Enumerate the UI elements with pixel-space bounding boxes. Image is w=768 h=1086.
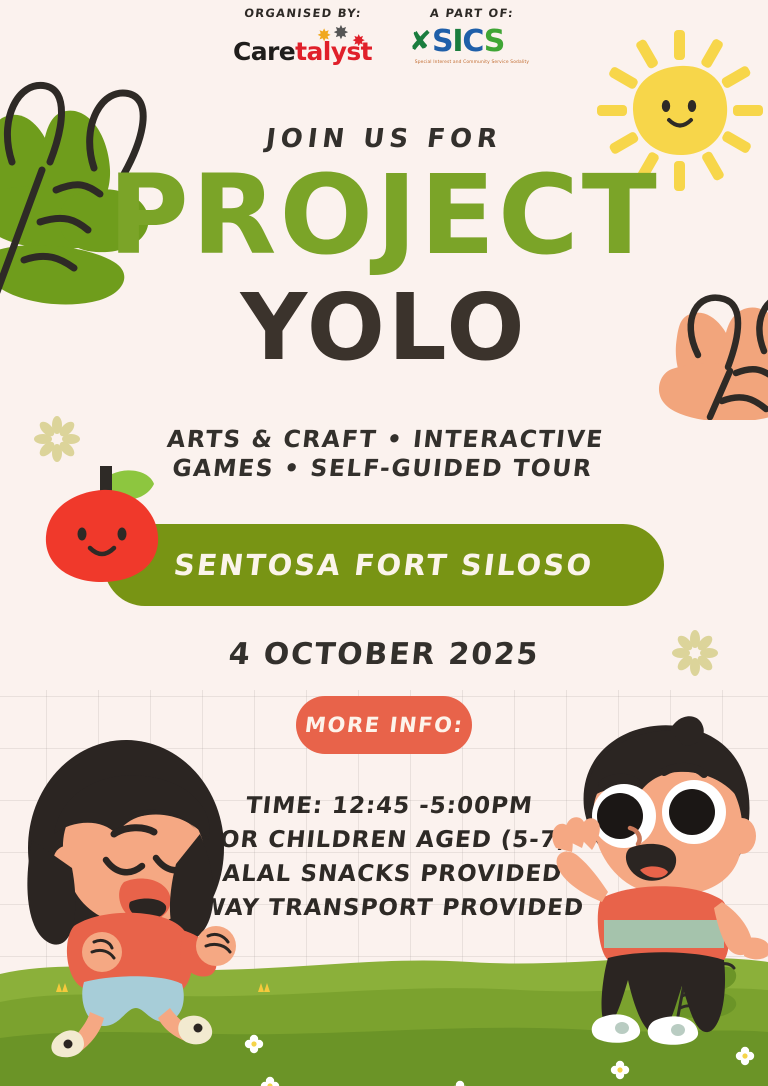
partner-block: A PART OF: ✘ SICS Special Interest and C… [409, 6, 535, 68]
activities-list: ARTS & CRAFT • INTERACTIVE GAMES • SELF-… [0, 425, 768, 483]
a-part-of-label: A PART OF: [408, 6, 535, 20]
sics-letter-c: C [462, 24, 483, 59]
event-details: TIME: 12:45 -5:00PM FOR CHILDREN AGED (5… [0, 789, 768, 925]
page-title-line-1: PROJECT [0, 160, 768, 270]
detail-snacks: HALAL SNACKS PROVIDED [0, 857, 768, 891]
grass-ground [0, 940, 768, 1086]
sics-letter-s2: S [484, 24, 504, 59]
poster-canvas: ORGANISED BY: Caretalyst ✸ ✸ ✸ A PART OF… [0, 0, 768, 1086]
detail-time: TIME: 12:45 -5:00PM [4, 789, 768, 823]
detail-age: FOR CHILDREN AGED (5-7) [0, 823, 768, 857]
caretalyst-star-icon: ✸ [317, 28, 331, 45]
sics-logo: ✘ SICS Special Interest and Community Se… [409, 30, 535, 68]
organiser-block: ORGANISED BY: Caretalyst ✸ ✸ ✸ [233, 6, 373, 68]
sics-tagline: Special Interest and Community Service S… [409, 60, 535, 65]
activities-line-1: ARTS & CRAFT • INTERACTIVE [0, 425, 768, 454]
credits-header: ORGANISED BY: Caretalyst ✸ ✸ ✸ A PART OF… [0, 6, 768, 68]
caretalyst-star-icon: ✸ [352, 33, 365, 49]
more-info-label: MORE INFO: [303, 713, 465, 737]
event-date: 4 OCTOBER 2025 [0, 637, 768, 672]
hero-eyebrow: JOIN US FOR [0, 124, 768, 154]
activities-line-2: GAMES • SELF-GUIDED TOUR [0, 454, 768, 483]
venue-banner: SENTOSA FORT SILOSO [104, 524, 664, 606]
caretalyst-star-icon: ✸ [333, 24, 349, 43]
venue-text: SENTOSA FORT SILOSO [172, 548, 595, 582]
organised-by-label: ORGANISED BY: [232, 6, 373, 20]
sics-letter-s1: S [432, 24, 452, 59]
more-info-button[interactable]: MORE INFO: [296, 696, 472, 754]
sics-letter-i: I [452, 24, 462, 59]
detail-transport: 2-WAY TRANSPORT PROVIDED [0, 891, 764, 925]
page-title-line-2: YOLO [0, 282, 768, 374]
caretalyst-word-care: Care [233, 37, 295, 66]
sics-mark-icon: ✘ [409, 28, 432, 55]
caretalyst-logo: Caretalyst ✸ ✸ ✸ [233, 32, 373, 68]
